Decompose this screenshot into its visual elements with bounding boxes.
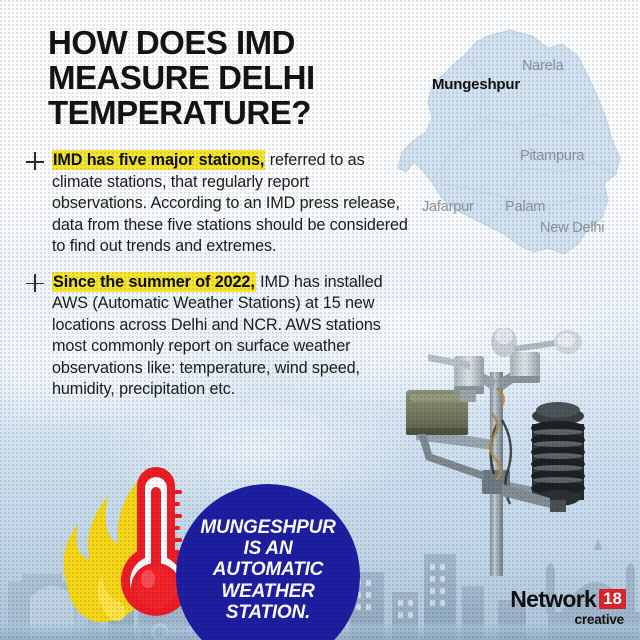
badge-line-2: IS AN [200, 538, 335, 559]
map-label-new-delhi: New Delhi [540, 220, 604, 236]
list-item: Since the summer of 2022, IMD has instal… [26, 272, 408, 401]
list-item: IMD has five major stations, referred to… [26, 150, 408, 258]
badge-line-1: MUNGESHPUR [200, 517, 335, 538]
map-label-palam: Palam [505, 199, 545, 215]
page-title: HOW DOES IMD MEASURE DELHI TEMPERATURE? [48, 26, 408, 131]
map-label-narela: Narela [522, 58, 564, 74]
title-line-2: MEASURE DELHI [48, 61, 408, 96]
badge-line-4: WEATHER [200, 581, 335, 602]
delhi-map-shape [392, 22, 640, 312]
logo-primary-row: Network 18 [510, 588, 626, 611]
network18-logo: Network 18 creative [510, 588, 626, 627]
infographic-canvas: Mungeshpur Narela Pitampura Jafarpur Pal… [0, 0, 640, 640]
map-label-mungeshpur: Mungeshpur [432, 76, 520, 93]
automatic-weather-station-photo [398, 328, 640, 576]
delhi-map: Mungeshpur Narela Pitampura Jafarpur Pal… [392, 22, 640, 312]
title-line-1: HOW DOES IMD [48, 26, 408, 61]
bullet-highlight: IMD has five major stations, [52, 150, 265, 170]
bullet-highlight: Since the summer of 2022, [52, 272, 256, 292]
badge-line-3: AUTOMATIC [200, 559, 335, 580]
title-line-3: TEMPERATURE? [48, 96, 408, 131]
plus-icon [26, 152, 46, 172]
logo-wordmark: Network [510, 588, 596, 611]
bullet-list: IMD has five major stations, referred to… [26, 150, 408, 415]
badge-text: MUNGESHPUR IS AN AUTOMATIC WEATHER STATI… [186, 517, 349, 623]
map-label-pitampura: Pitampura [520, 148, 584, 164]
bullet-text: IMD has five major stations, referred to… [52, 150, 408, 258]
bullet-text: Since the summer of 2022, IMD has instal… [52, 272, 408, 401]
badge-line-5: STATION. [200, 602, 335, 623]
plus-icon [26, 274, 46, 294]
map-label-jafarpur: Jafarpur [422, 199, 474, 215]
logo-18-mark: 18 [599, 589, 626, 609]
logo-subtitle: creative [510, 613, 626, 627]
